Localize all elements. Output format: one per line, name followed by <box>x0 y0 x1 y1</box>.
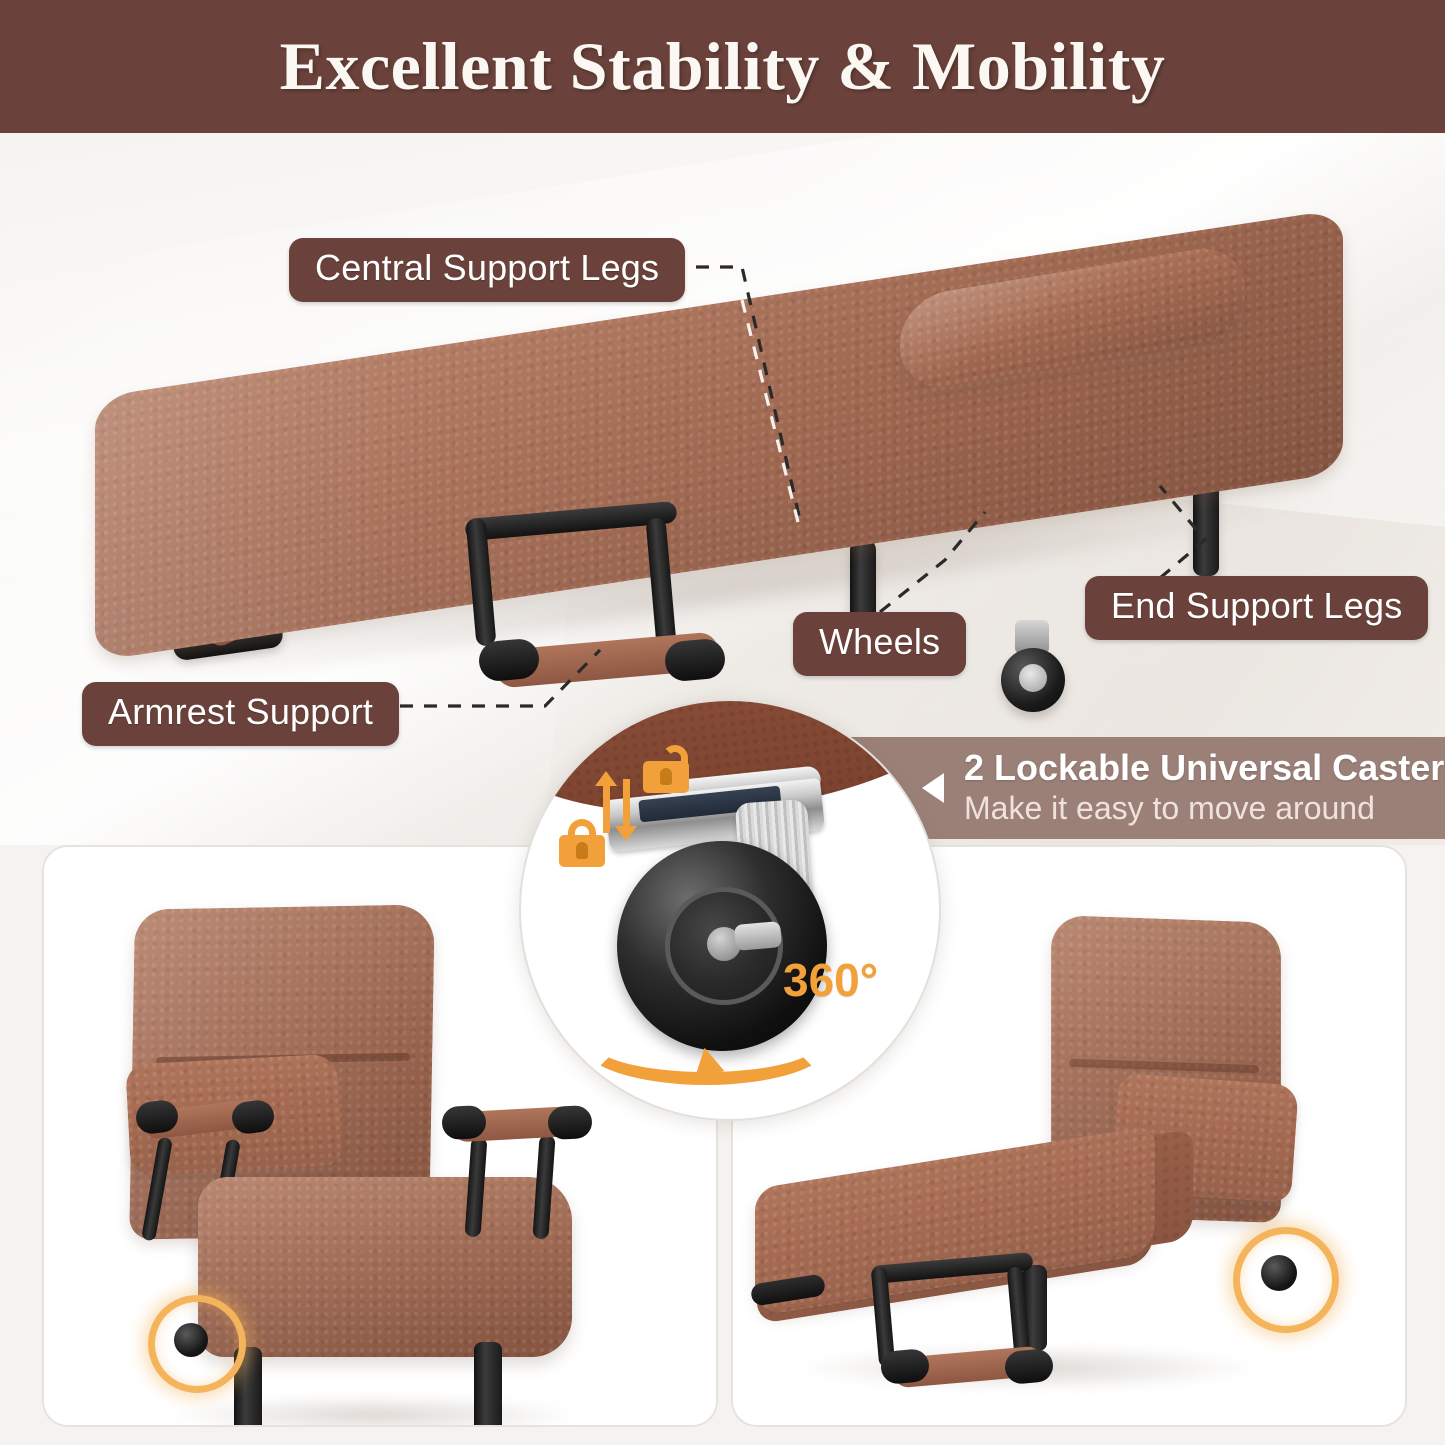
armrest-frame-right-post <box>645 517 676 646</box>
armrest-foot-cap-right <box>663 637 726 682</box>
padlock-closed-keyhole <box>576 842 588 859</box>
up-down-arrows-icon <box>595 771 639 841</box>
caster-axle <box>734 921 782 951</box>
caster-detail-closeup: 360° <box>519 699 941 1121</box>
caster-highlight-ring-right <box>1233 1227 1339 1333</box>
chair-armrest-right-cap-front <box>441 1105 487 1140</box>
folding-bed-flat <box>55 208 1385 728</box>
degree-label: 360° <box>783 953 878 1007</box>
chair-seat-highlight <box>198 1177 572 1357</box>
caster-highlight-ring-left <box>148 1295 246 1393</box>
left-triangle-icon <box>922 773 944 803</box>
caster-banner-subtitle: Make it easy to move around <box>964 790 1445 828</box>
label-armrest-support[interactable]: Armrest Support <box>82 682 399 746</box>
chair-arm-left-post-front <box>141 1137 173 1242</box>
arrow-down-head <box>615 826 637 841</box>
arrow-down-shaft <box>623 779 630 833</box>
padlock-open-keyhole <box>660 768 672 785</box>
chair-leg-right <box>474 1342 502 1427</box>
chair-ground-shadow <box>164 1395 584 1427</box>
bed-caster-wheel <box>1001 648 1065 712</box>
label-wheels[interactable]: Wheels <box>793 612 966 676</box>
infographic-page: Excellent Stability & Mobility <box>0 0 1445 1445</box>
header-banner: Excellent Stability & Mobility <box>0 0 1445 133</box>
arrow-up-head <box>595 771 617 786</box>
label-end-support-legs[interactable]: End Support Legs <box>1085 576 1428 640</box>
arrow-up-shaft <box>603 779 610 833</box>
caster-banner-text: 2 Lockable Universal Casters Make it eas… <box>964 748 1445 828</box>
chair-armrest-right-cap-back <box>547 1105 593 1140</box>
label-central-support-legs[interactable]: Central Support Legs <box>289 238 685 302</box>
padlock-open-icon <box>643 745 689 793</box>
caster-banner-title: 2 Lockable Universal Casters <box>964 748 1445 788</box>
page-title: Excellent Stability & Mobility <box>280 27 1166 106</box>
